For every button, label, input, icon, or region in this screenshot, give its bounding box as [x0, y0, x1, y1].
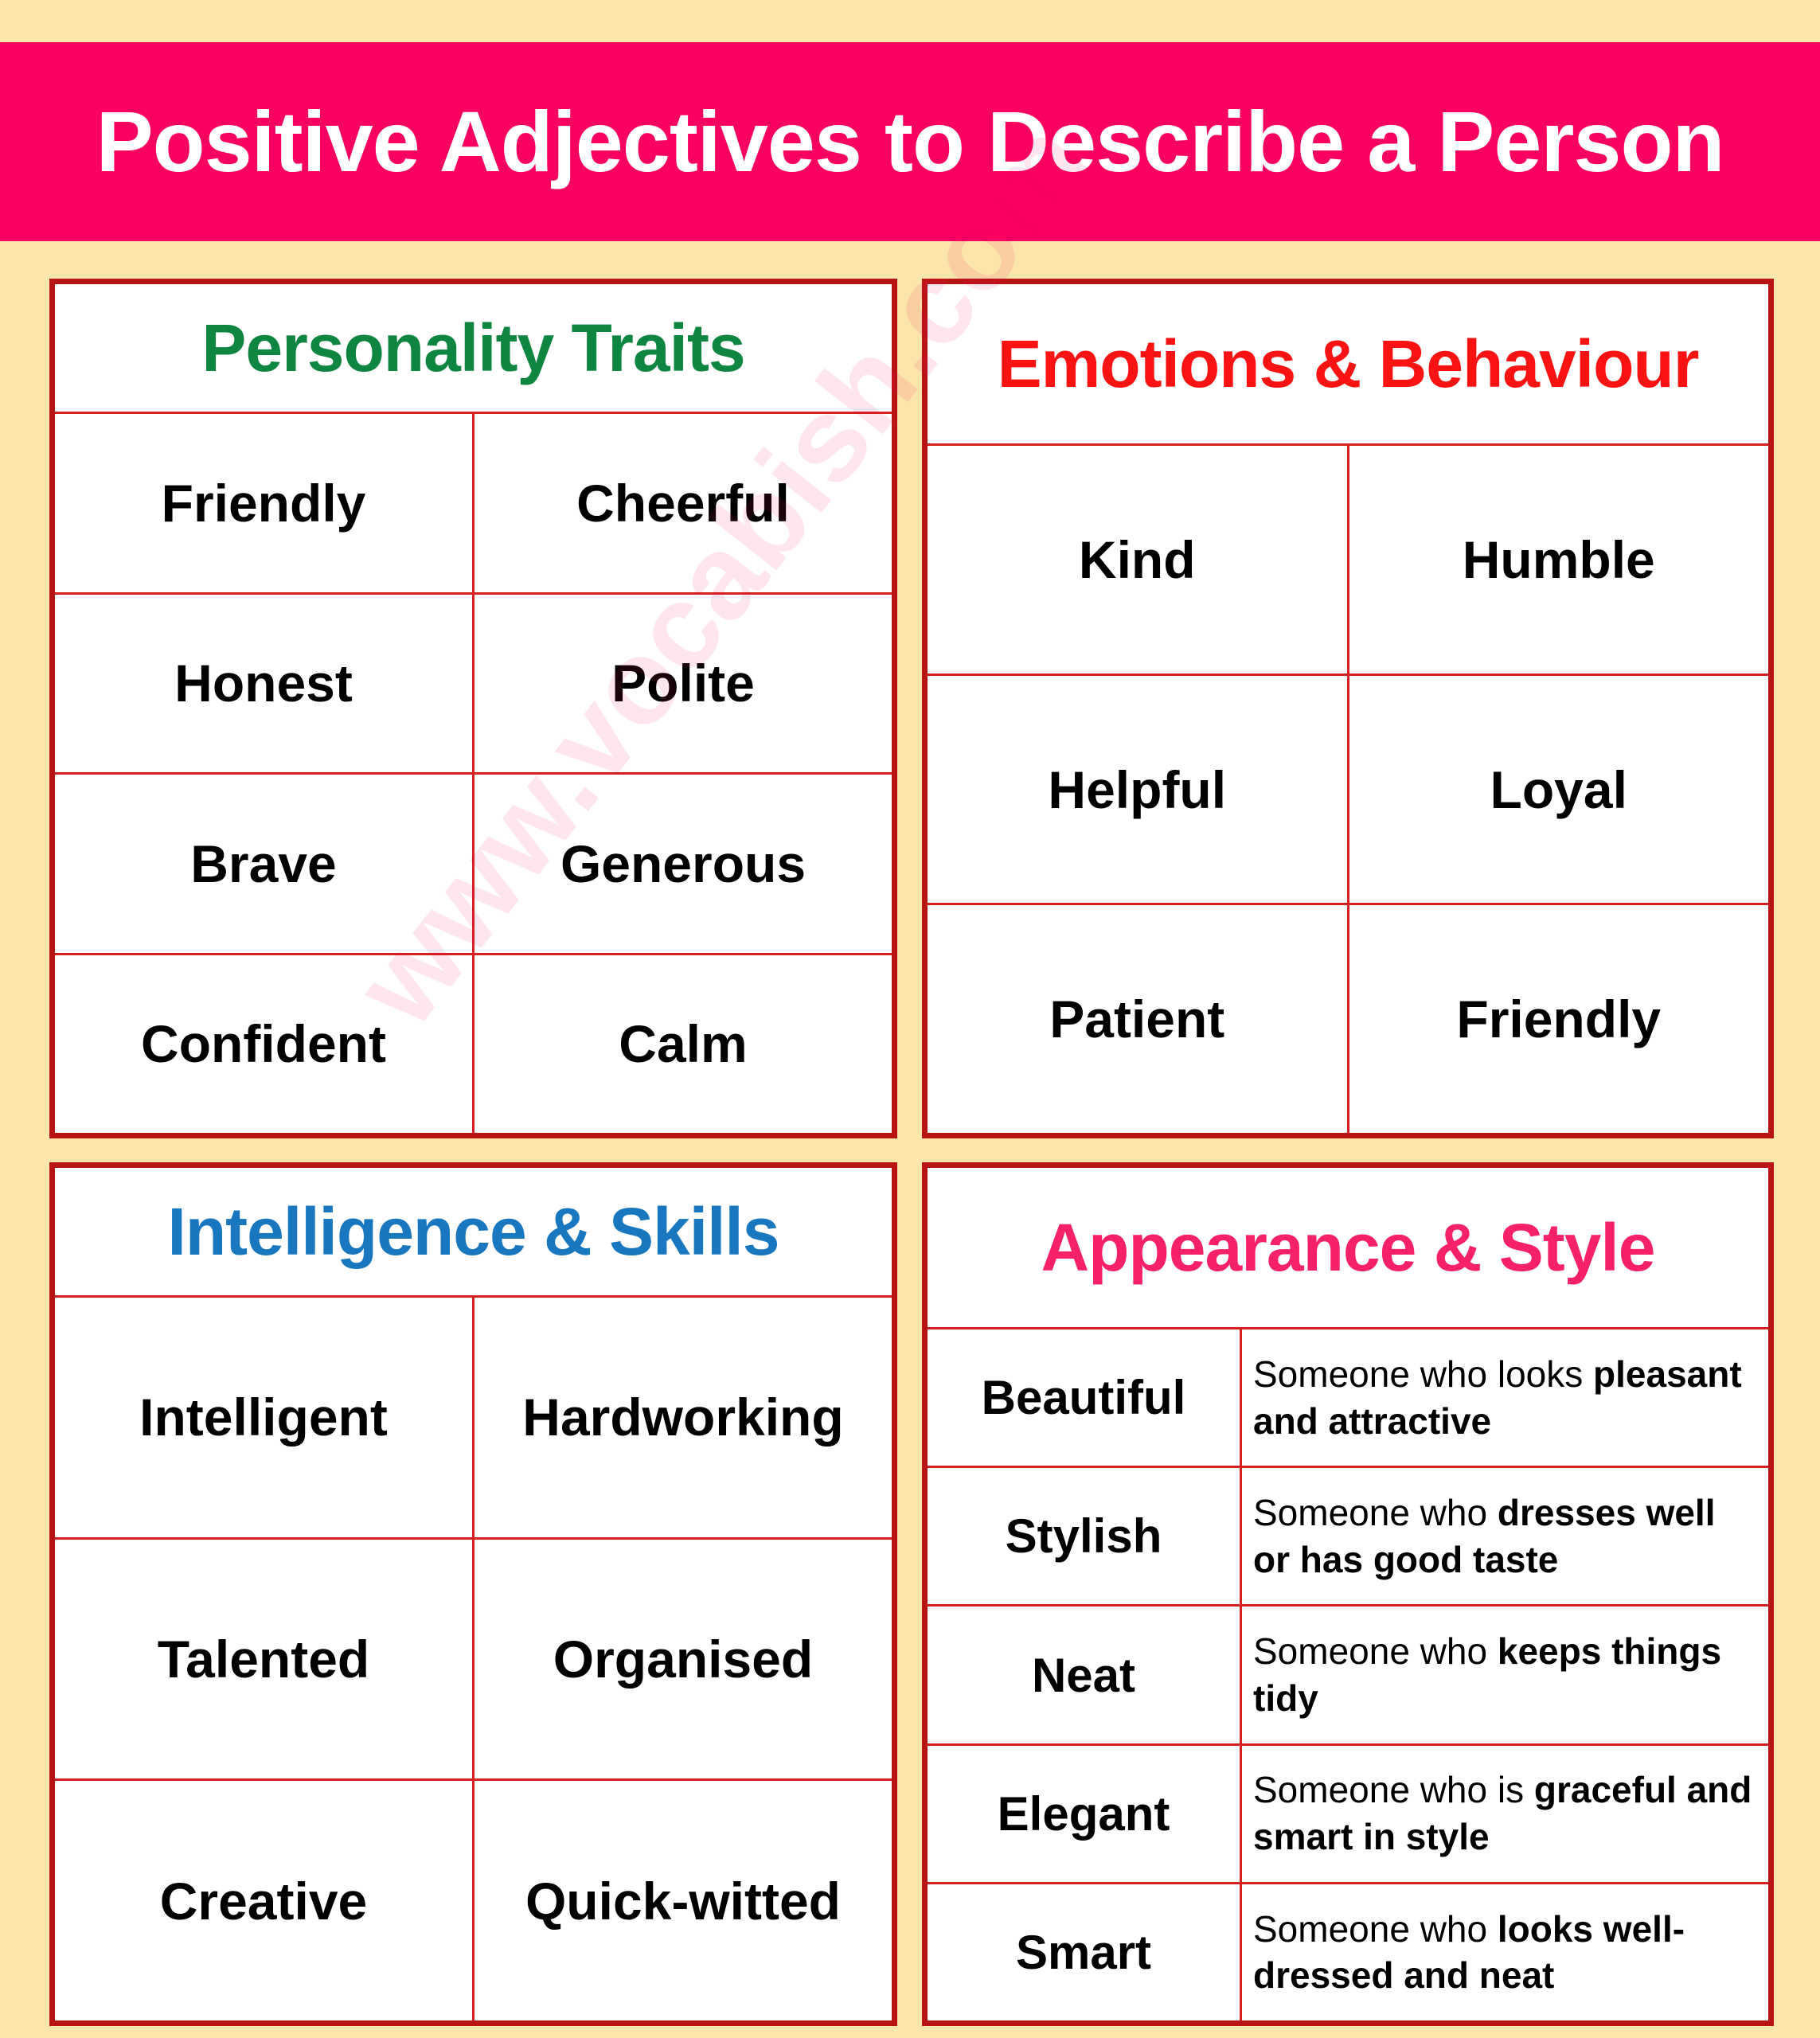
card-personality-traits: Personality Traits Friendly Cheerful Hon… [49, 279, 897, 1138]
adjective-definition: Someone who looks pleasant and attractiv… [1242, 1329, 1768, 1466]
table-row: Creative Quick-witted [55, 1781, 892, 2020]
table-cell: Organised [475, 1540, 892, 1779]
adjective-word: Neat [928, 1607, 1242, 1743]
table-cell: Polite [475, 595, 892, 773]
table-cell: Calm [475, 955, 892, 1134]
table-cell: Loyal [1349, 676, 1769, 904]
card-emotions-behaviour: Emotions & Behaviour Kind Humble Helpful… [922, 279, 1774, 1138]
table-row: Helpful Loyal [928, 676, 1768, 906]
definition-lead: Someone who [1253, 1630, 1498, 1672]
table-cell: Confident [55, 955, 475, 1134]
adjective-word: Stylish [928, 1468, 1242, 1604]
table-row: Talented Organised [55, 1540, 892, 1782]
table-row: Patient Friendly [928, 905, 1768, 1133]
table-row: Neat Someone who keeps things tidy [928, 1607, 1768, 1745]
table-cell: Helpful [928, 676, 1349, 904]
table-cell: Kind [928, 446, 1349, 673]
table-row: Elegant Someone who is graceful and smar… [928, 1746, 1768, 1884]
title-banner: Positive Adjectives to Describe a Person [0, 42, 1820, 241]
table-cell: Talented [55, 1540, 475, 1779]
table-cell: Cheerful [475, 414, 892, 592]
table-cell: Hardworking [475, 1298, 892, 1537]
table-row: Confident Calm [55, 955, 892, 1134]
table-cell: Humble [1349, 446, 1769, 673]
table-cell: Brave [55, 775, 475, 953]
table-row: Intelligent Hardworking [55, 1298, 892, 1540]
adjective-word: Smart [928, 1884, 1242, 2020]
card-heading-personality-traits: Personality Traits [55, 284, 892, 412]
appearance-style-table: Beautiful Someone who looks pleasant and… [928, 1327, 1768, 2020]
table-cell: Honest [55, 595, 475, 773]
table-cell: Friendly [55, 414, 475, 592]
page-title: Positive Adjectives to Describe a Person [96, 99, 1724, 185]
definition-lead: Someone who looks [1253, 1353, 1593, 1395]
adjective-definition: Someone who looks well-dressed and neat [1242, 1884, 1768, 2020]
card-heading-appearance-style: Appearance & Style [928, 1168, 1768, 1327]
table-cell: Patient [928, 905, 1349, 1133]
personality-traits-table: Friendly Cheerful Honest Polite Brave Ge… [55, 412, 892, 1133]
card-heading-intelligence-skills: Intelligence & Skills [55, 1168, 892, 1295]
table-row: Kind Humble [928, 446, 1768, 676]
card-heading-emotions-behaviour: Emotions & Behaviour [928, 284, 1768, 443]
emotions-behaviour-table: Kind Humble Helpful Loyal Patient Friend… [928, 443, 1768, 1133]
table-cell: Quick-witted [475, 1781, 892, 2020]
table-row: Friendly Cheerful [55, 414, 892, 595]
adjective-word: Beautiful [928, 1329, 1242, 1466]
table-cell: Creative [55, 1781, 475, 2020]
table-row: Honest Polite [55, 595, 892, 775]
definition-lead: Someone who is [1253, 1769, 1534, 1810]
table-cell: Generous [475, 775, 892, 953]
definition-lead: Someone who [1253, 1492, 1498, 1533]
table-row: Brave Generous [55, 775, 892, 955]
intelligence-skills-table: Intelligent Hardworking Talented Organis… [55, 1295, 892, 2020]
table-row: Beautiful Someone who looks pleasant and… [928, 1329, 1768, 1468]
cards-grid: Personality Traits Friendly Cheerful Hon… [0, 271, 1820, 2030]
adjective-definition: Someone who keeps things tidy [1242, 1607, 1768, 1743]
card-intelligence-skills: Intelligence & Skills Intelligent Hardwo… [49, 1162, 897, 2026]
table-row: Stylish Someone who dresses well or has … [928, 1468, 1768, 1607]
adjective-definition: Someone who dresses well or has good tas… [1242, 1468, 1768, 1604]
table-cell: Friendly [1349, 905, 1769, 1133]
table-cell: Intelligent [55, 1298, 475, 1537]
table-row: Smart Someone who looks well-dressed and… [928, 1884, 1768, 2020]
adjective-definition: Someone who is graceful and smart in sty… [1242, 1746, 1768, 1882]
card-appearance-style: Appearance & Style Beautiful Someone who… [922, 1162, 1774, 2026]
adjective-word: Elegant [928, 1746, 1242, 1882]
definition-lead: Someone who [1253, 1908, 1498, 1950]
